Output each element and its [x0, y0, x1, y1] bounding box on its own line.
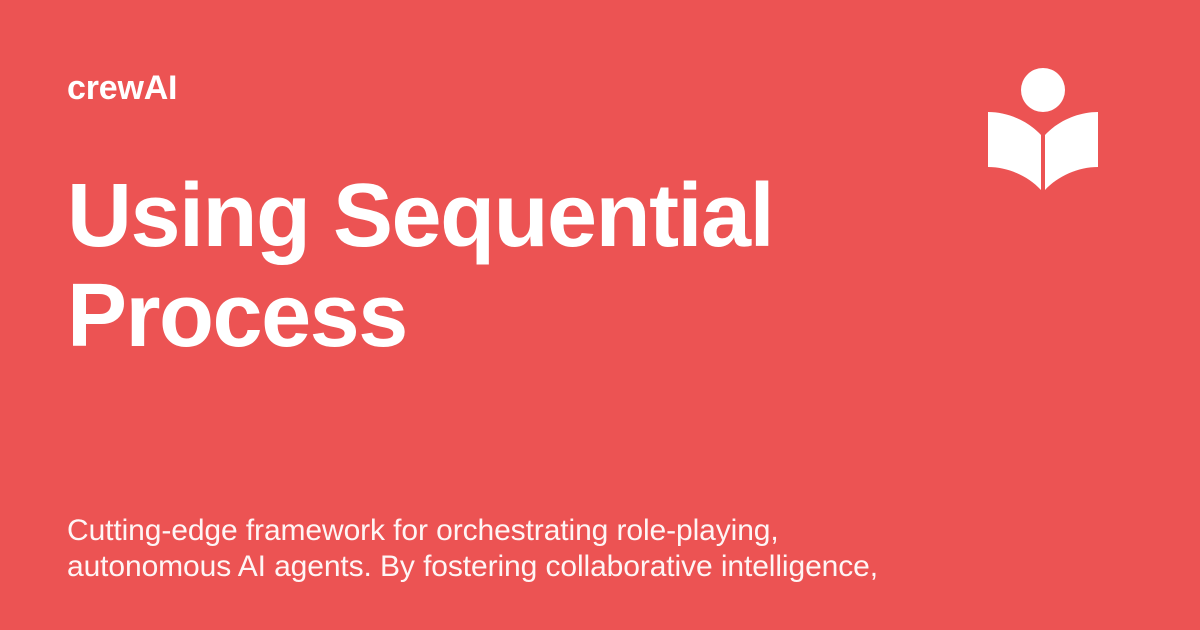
page-description-line-2: autonomous AI agents. By fostering colla…: [67, 549, 927, 585]
page-title-line-2: Process: [67, 266, 867, 366]
page-description-line-1: Cutting-edge framework for orchestrating…: [67, 513, 927, 549]
page-title-line-1: Using Sequential: [67, 166, 867, 266]
open-book-reader-icon: [986, 64, 1100, 192]
page-description: Cutting-edge framework for orchestrating…: [67, 513, 927, 585]
page-title: Using Sequential Process: [67, 166, 867, 366]
og-social-card: crewAI Using Sequential Process Cutting-…: [0, 0, 1200, 630]
brand-wordmark: crewAI: [67, 69, 177, 107]
